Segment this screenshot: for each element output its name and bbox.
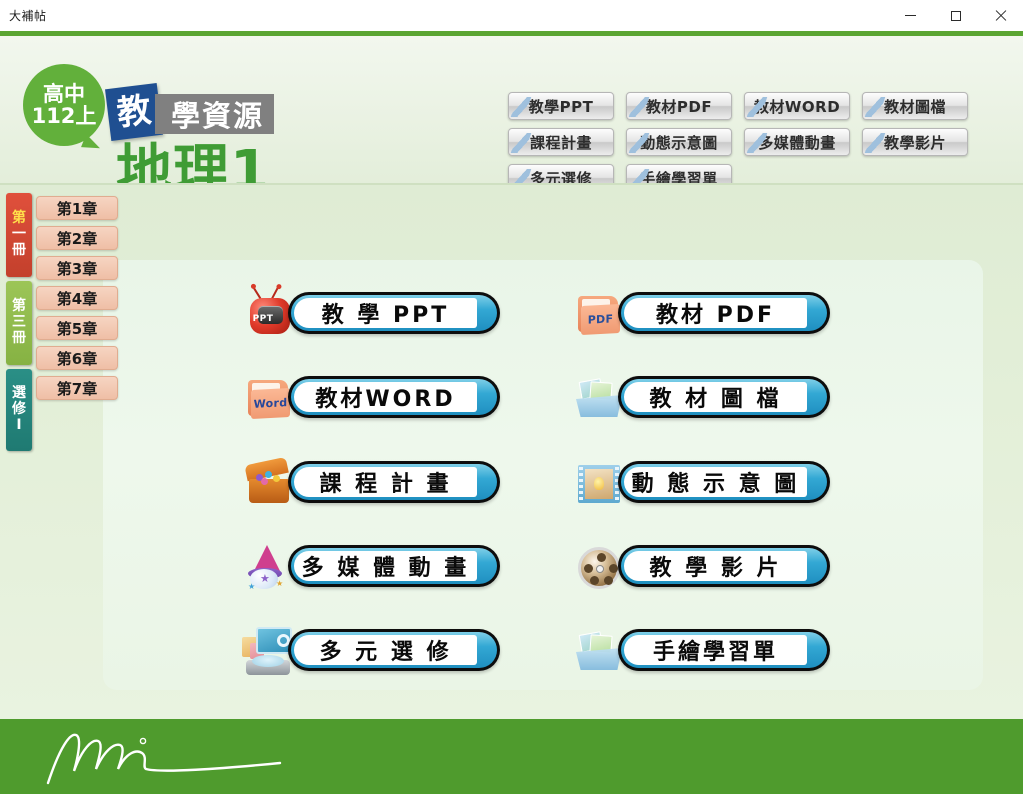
- menu-item-multimedia-animation[interactable]: ★★★ 多 媒 體 動 畫: [240, 541, 500, 595]
- menu-item-material-pdf[interactable]: PDF 教材 PDF: [570, 288, 830, 342]
- menu-item-course-plan[interactable]: 課 程 計 畫: [240, 457, 500, 511]
- menu-item-label: 教 材 圖 檔: [650, 381, 782, 413]
- menu-pill: 教材WORD: [288, 376, 500, 418]
- quick-nav: 教學PPT 教材PDF 教材WORD 教材圖檔 課程計畫 動態示意圖: [508, 92, 1008, 185]
- page-header: 高中 112上 教 學資源 地理1 教學PPT 教材PDF 教材WORD: [0, 36, 1023, 185]
- page-title: 地理1: [116, 144, 270, 185]
- quick-nav-label: 多媒體動畫: [758, 132, 836, 153]
- maximize-button[interactable]: [933, 0, 978, 31]
- resource-menu: PPT 教 學 PPT PDF 教材 PDF: [0, 185, 1023, 719]
- quick-nav-multimedia[interactable]: 多媒體動畫: [744, 128, 850, 156]
- quick-nav-pdf[interactable]: 教材PDF: [626, 92, 732, 120]
- quick-nav-label: 教學PPT: [529, 96, 594, 117]
- menu-pill: 教 材 圖 檔: [618, 376, 830, 418]
- quick-nav-plan[interactable]: 課程計畫: [508, 128, 614, 156]
- menu-pill: 多 元 選 修: [288, 629, 500, 671]
- menu-item-teaching-ppt[interactable]: PPT 教 學 PPT: [240, 288, 500, 342]
- quick-nav-label: 教學影片: [884, 132, 946, 153]
- quick-nav-worksheet[interactable]: 手繪學習單: [626, 164, 732, 185]
- slash-icon: [511, 169, 531, 185]
- menu-item-handdrawn-worksheet[interactable]: 手繪學習單: [570, 625, 830, 679]
- menu-item-elective-courses[interactable]: 多 元 選 修: [240, 625, 500, 679]
- logo-band: 學資源: [155, 94, 274, 134]
- quick-nav-word[interactable]: 教材WORD: [744, 92, 850, 120]
- menu-item-animated-diagram[interactable]: 動 態 示 意 圖: [570, 457, 830, 511]
- menu-item-label: 課 程 計 畫: [320, 466, 452, 498]
- quick-nav-elective[interactable]: 多元選修: [508, 164, 614, 185]
- logo-kanji: 教: [115, 93, 153, 131]
- menu-item-teaching-video[interactable]: 教 學 影 片: [570, 541, 830, 595]
- quick-nav-label: 課程計畫: [530, 132, 592, 153]
- quick-nav-label: 教材WORD: [754, 96, 840, 117]
- menu-item-material-word[interactable]: Word 教材WORD: [240, 372, 500, 426]
- slash-icon: [865, 97, 885, 117]
- close-button[interactable]: [978, 0, 1023, 31]
- menu-item-label: 教 學 影 片: [650, 550, 782, 582]
- slash-icon: [511, 133, 531, 153]
- quick-nav-ppt[interactable]: 教學PPT: [508, 92, 614, 120]
- menu-item-label: 多 元 選 修: [320, 634, 452, 666]
- quick-nav-images[interactable]: 教材圖檔: [862, 92, 968, 120]
- menu-item-label: 教材 PDF: [656, 297, 775, 329]
- close-icon: [995, 10, 1007, 22]
- quick-nav-label: 多元選修: [530, 168, 592, 186]
- menu-pill: 教 學 PPT: [288, 292, 500, 334]
- window-titlebar: 大補帖: [0, 0, 1023, 31]
- window-title: 大補帖: [0, 7, 47, 24]
- menu-pill: 動 態 示 意 圖: [618, 461, 830, 503]
- menu-item-label: 教材WORD: [315, 381, 455, 413]
- logo-band-text: 學資源: [171, 93, 264, 135]
- minimize-icon: [905, 15, 916, 16]
- quick-nav-label: 教材圖檔: [884, 96, 946, 117]
- menu-item-label: 教 學 PPT: [322, 297, 450, 329]
- application-window: 大補帖 高中 112上 教 學資源 地理1 教學PPT: [0, 0, 1023, 794]
- menu-item-label: 多 媒 體 動 畫: [302, 550, 470, 582]
- menu-pill: 教 學 影 片: [618, 545, 830, 587]
- menu-pill: 課 程 計 畫: [288, 461, 500, 503]
- page-footer: 建議使用office 2007 以上版本 服務中心 回首頁 離 開: [0, 719, 1023, 794]
- grade-badge: 高中 112上: [23, 64, 105, 146]
- menu-item-material-images[interactable]: 教 材 圖 檔: [570, 372, 830, 426]
- slash-icon: [865, 133, 885, 153]
- quick-nav-label: 教材PDF: [646, 96, 712, 117]
- brand-logo: [30, 727, 330, 787]
- menu-item-label: 手繪學習單: [653, 634, 778, 666]
- minimize-button[interactable]: [888, 0, 933, 31]
- quick-nav-label: 手繪學習單: [640, 168, 718, 186]
- menu-pill: 教材 PDF: [618, 292, 830, 334]
- quick-nav-label: 動態示意圖: [640, 132, 718, 153]
- maximize-icon: [951, 11, 961, 21]
- menu-pill: 多 媒 體 動 畫: [288, 545, 500, 587]
- quick-nav-video[interactable]: 教學影片: [862, 128, 968, 156]
- menu-item-label: 動 態 示 意 圖: [632, 466, 800, 498]
- grade-badge-line1: 高中: [43, 83, 85, 105]
- quick-nav-animation-diagram[interactable]: 動態示意圖: [626, 128, 732, 156]
- grade-badge-line2: 112上: [32, 105, 97, 127]
- slash-icon: [629, 169, 649, 185]
- menu-pill: 手繪學習單: [618, 629, 830, 671]
